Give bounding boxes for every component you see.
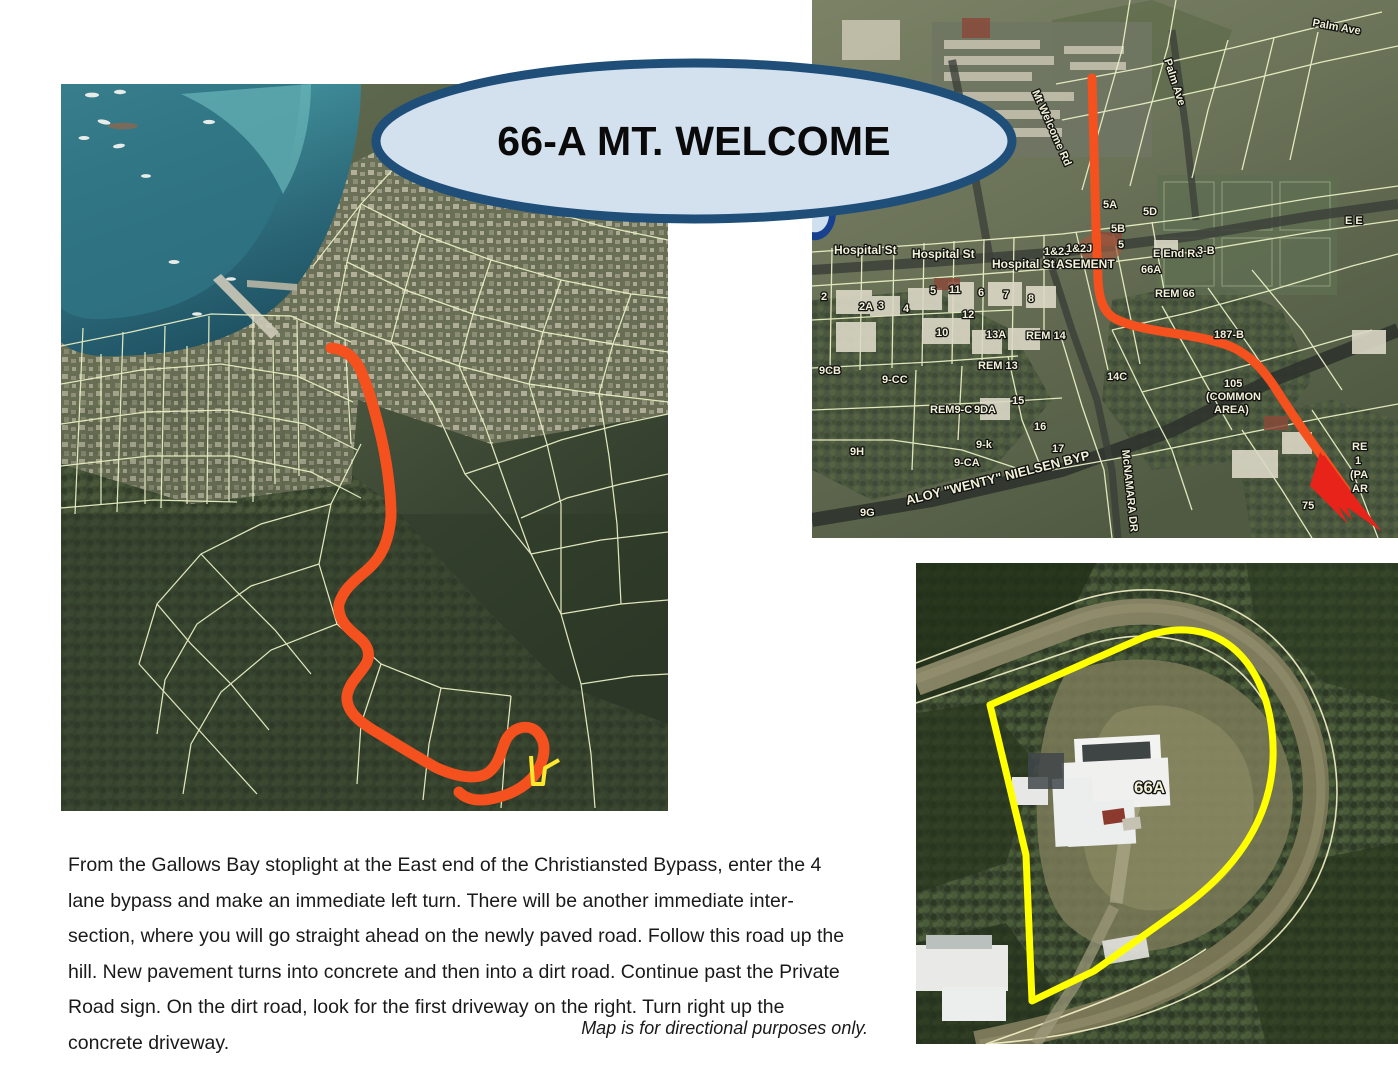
map-label: 1: [1355, 455, 1361, 467]
parcel-detail-map-image: 66A: [916, 563, 1398, 1044]
title-banner: 66-A MT. WELCOME: [370, 57, 1018, 225]
map-label: REM 14: [1026, 330, 1067, 342]
map-label: E E: [1345, 215, 1363, 227]
map-label: 13A: [986, 329, 1006, 341]
map-label: 6: [978, 287, 984, 299]
page-canvas: Mt Welcome RdPalm AvePalm Ave5A5D5B51&2J…: [0, 0, 1398, 1080]
map-label: 2A: [859, 301, 873, 313]
map-label: EASEMENT: [1048, 257, 1115, 271]
map-label: AR: [1352, 483, 1368, 495]
map-label: 7: [1003, 289, 1009, 301]
parcel-detail-map[interactable]: 66A: [916, 563, 1398, 1044]
map-label: 11: [949, 284, 961, 296]
map-label: 9DA: [974, 404, 996, 416]
map-label: 8: [1028, 293, 1034, 305]
map-label: (COMMON: [1206, 391, 1261, 403]
map-label: 5A: [1103, 199, 1117, 211]
map-label: 9-CA: [954, 457, 980, 469]
map-label: 3: [878, 300, 884, 312]
map-label: 9-CC: [882, 374, 908, 386]
map-label: E End Rd: [1153, 248, 1202, 260]
map-label: 75: [1302, 500, 1314, 512]
map-label: 5D: [1143, 206, 1157, 218]
parcel-detail-labels: 66A: [1134, 778, 1165, 797]
map-label: 5: [930, 285, 936, 297]
map-label: 9CB: [819, 365, 841, 377]
map-label: 9H: [850, 446, 864, 458]
map-label: 187-B: [1214, 329, 1244, 341]
map-label: 66A: [1134, 778, 1165, 797]
map-label: 3-B: [1197, 245, 1215, 257]
map-label: 105: [1224, 378, 1242, 390]
map-label: REM 66: [1155, 288, 1195, 300]
map-label: 15: [1012, 395, 1024, 407]
map-label: 16: [1034, 421, 1046, 433]
map-label: Hospital St: [834, 243, 897, 257]
map-label: RE: [1352, 441, 1367, 453]
map-label: 9G: [860, 507, 875, 519]
map-label: 9-k: [976, 439, 993, 451]
map-label: 66A: [1141, 264, 1161, 276]
map-label: 5B: [1111, 223, 1125, 235]
map-disclaimer: Map is for directional purposes only.: [68, 1018, 868, 1039]
map-label: 12: [962, 309, 974, 321]
map-label: 1&2J: [1066, 243, 1092, 255]
map-label: 14C: [1107, 371, 1127, 383]
map-label: (PA: [1350, 469, 1368, 481]
map-label: Hospital St: [912, 247, 975, 261]
map-label: REM9-C: [930, 404, 972, 416]
map-label: 5: [1118, 239, 1124, 251]
map-label: 4: [903, 303, 910, 315]
map-label: 2: [821, 291, 827, 303]
map-label: REM 13: [978, 360, 1018, 372]
map-label: Hospital St: [992, 257, 1055, 271]
page-title: 66-A MT. WELCOME: [370, 57, 1018, 225]
map-label: AREA): [1214, 404, 1249, 416]
map-label: 10: [936, 327, 948, 339]
